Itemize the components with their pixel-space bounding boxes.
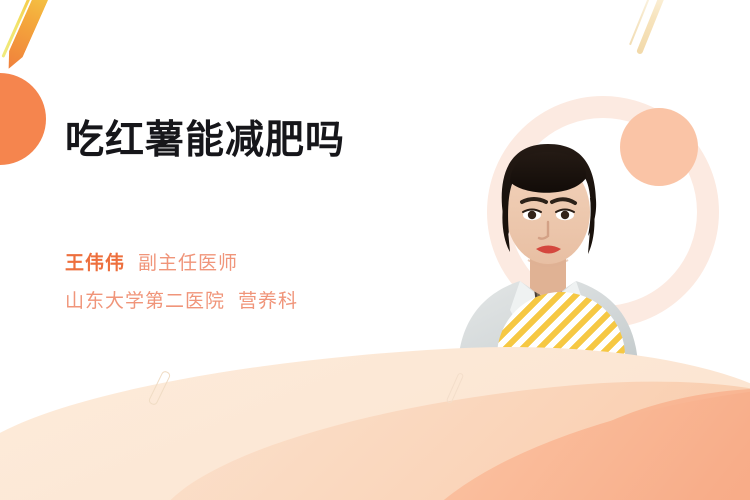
- left-orange-circle-decor: [0, 73, 46, 165]
- doctor-portrait: [452, 104, 644, 366]
- doctor-name: 王伟伟: [65, 253, 125, 274]
- bottom-right-stroke-decor: [446, 372, 464, 404]
- doctor-department: 营养科: [238, 291, 298, 312]
- doctor-affiliation: 山东大学第二医院营养科: [65, 286, 298, 318]
- bottom-wave-strong: [382, 369, 750, 500]
- doctor-rank: 副主任医师: [138, 253, 238, 274]
- top-right-wedge-decor: [636, 0, 674, 55]
- bottom-left-stroke-decor: [148, 370, 172, 406]
- top-left-thin-line-decor: [1, 0, 35, 58]
- top-left-wedge-decor: [2, 0, 58, 72]
- doctor-video-cover-card: 吃红薯能减肥吗 王伟伟副主任医师 山东大学第二医院营养科: [0, 0, 750, 500]
- bottom-wave-mid: [143, 362, 750, 500]
- doctor-byline: 王伟伟副主任医师: [65, 248, 238, 280]
- top-right-thin-line-decor: [629, 0, 658, 45]
- page-title: 吃红薯能减肥吗: [65, 118, 345, 164]
- doctor-hospital: 山东大学第二医院: [65, 291, 225, 312]
- bottom-wave-strong-back: [494, 378, 750, 500]
